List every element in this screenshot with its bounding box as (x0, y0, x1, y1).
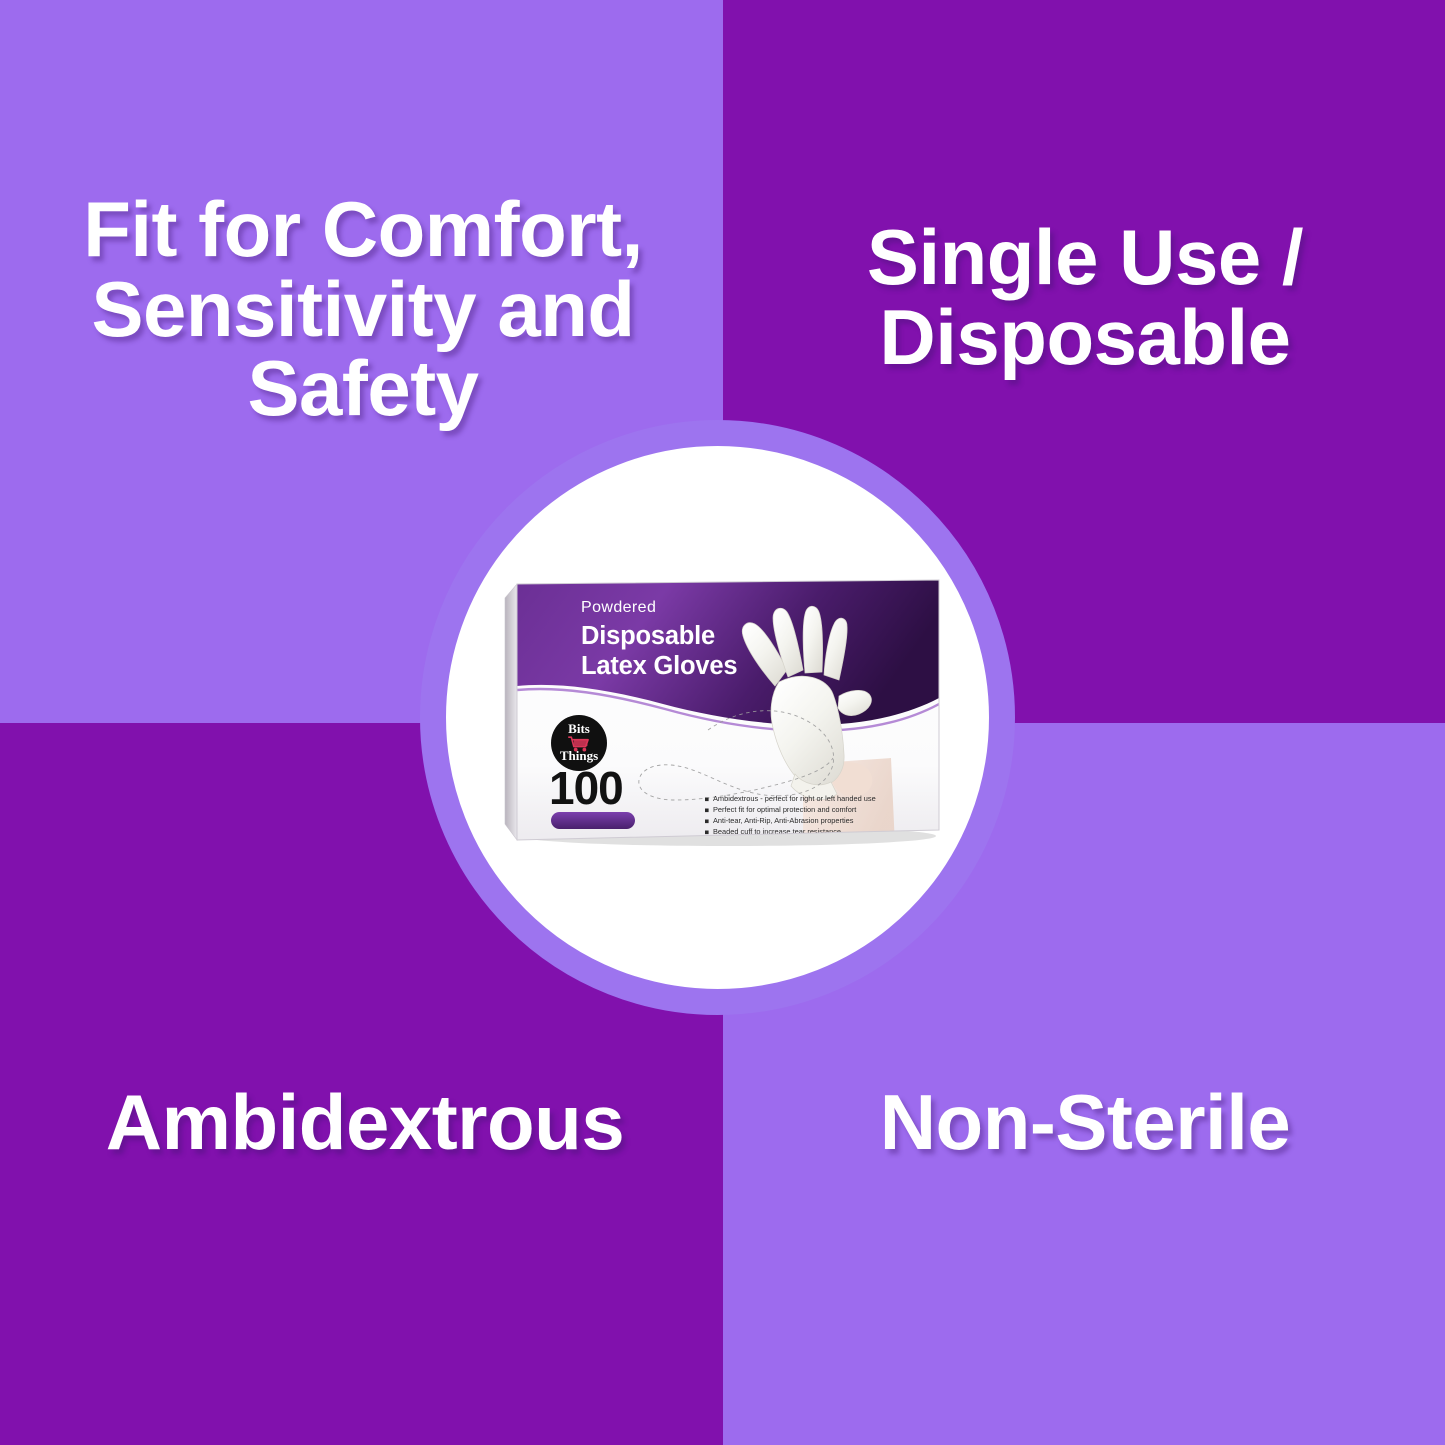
headline-non-sterile: Non-Sterile (735, 1083, 1435, 1163)
box-quantity-pill (551, 812, 635, 829)
headline-ambidextrous: Ambidextrous (10, 1083, 720, 1163)
headline-single-use-disposable: Single Use / Disposable (735, 218, 1435, 377)
box-feature-item: Perfect fit for optimal protection and c… (713, 805, 856, 814)
headline-fit-for-comfort: Fit for Comfort, Sensitivity and Safety (18, 190, 708, 429)
product-box-image: Powdered Disposable Latex Gloves Bits Th… (503, 578, 941, 846)
brand-logo-top-word: Bits (568, 721, 590, 736)
box-title-line-2: Latex Gloves (581, 652, 737, 680)
brand-logo-bottom-word: Things (560, 748, 598, 763)
box-title-line-1: Disposable (581, 622, 715, 650)
box-eyebrow-text: Powdered (581, 599, 656, 616)
box-feature-item: Ambidextrous - perfect for right or left… (713, 794, 876, 803)
box-feature-item: Anti-tear, Anti-Rip, Anti-Abrasion prope… (713, 816, 854, 825)
infographic-canvas: Fit for Comfort, Sensitivity and Safety … (0, 0, 1445, 1445)
box-quantity: 100 (549, 762, 623, 814)
